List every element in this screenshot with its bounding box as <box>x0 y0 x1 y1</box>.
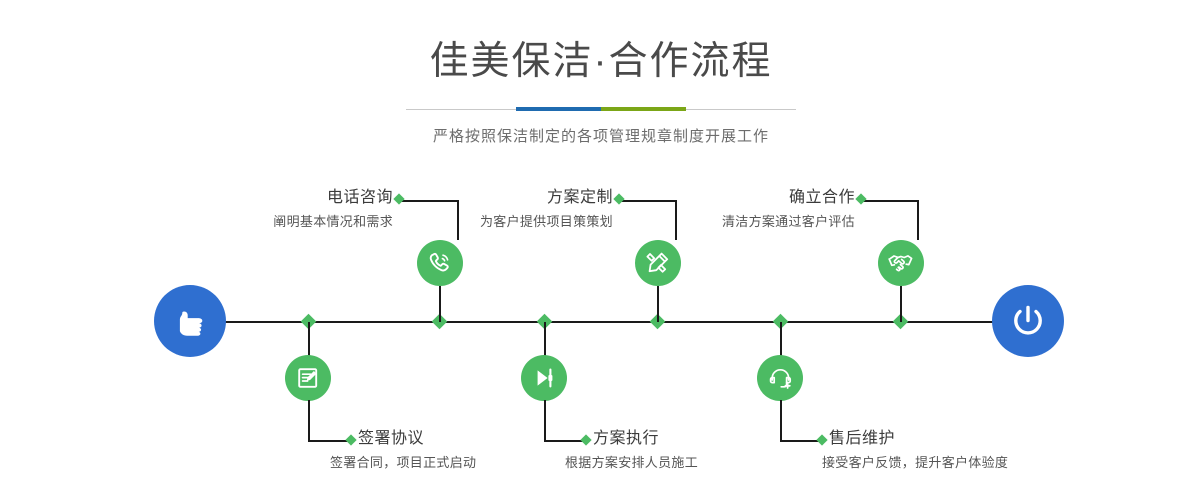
play-execute-icon <box>531 365 557 391</box>
connector-vertical-4 <box>657 286 659 322</box>
header: 佳美保洁·合作流程 严格按照保洁制定的各项管理规章制度开展工作 <box>0 0 1202 146</box>
divider-segment-green <box>601 107 686 111</box>
step-label-4: 方案执行 根据方案安排人员施工 <box>593 429 833 471</box>
step-title-3: 方案定制 <box>380 188 613 207</box>
label-marker-2 <box>345 434 356 445</box>
step-desc-6: 接受客户反馈，提升客户体验度 <box>822 455 1089 471</box>
step-title-5: 确立合作 <box>622 188 855 207</box>
connector-vertical-4b <box>544 400 546 441</box>
connector-vertical-2b <box>308 400 310 441</box>
connector-vertical-5b <box>917 200 919 240</box>
connector-vertical-6b <box>780 400 782 441</box>
step-title-1: 电话咨询 <box>160 188 393 207</box>
step-desc-4: 根据方案安排人员施工 <box>565 455 833 471</box>
step-label-6: 售后维护 接受客户反馈，提升客户体验度 <box>829 429 1089 471</box>
step-label-1: 电话咨询 阐明基本情况和需求 <box>160 188 393 230</box>
connector-vertical-5 <box>780 322 782 357</box>
step-label-2: 签署协议 签署合同，项目正式启动 <box>358 429 598 471</box>
headset-support-icon <box>767 365 794 392</box>
step-desc-3: 为客户提供项目策策划 <box>380 214 613 230</box>
pencil-ruler-icon <box>644 249 672 277</box>
document-edit-icon <box>295 365 321 391</box>
divider-segment-blue <box>516 107 601 111</box>
connector-vertical-2 <box>439 286 441 322</box>
title-divider <box>406 107 796 111</box>
connector-vertical-6 <box>900 286 902 322</box>
handshake-icon <box>887 249 915 277</box>
step-title-6: 售后维护 <box>829 429 1089 448</box>
step-icon-node-4 <box>521 355 567 401</box>
step-icon-node-3 <box>635 240 681 286</box>
step-title-2: 签署协议 <box>358 429 598 448</box>
step-desc-5: 清洁方案通过客户评估 <box>622 214 855 230</box>
connector-horizontal-2 <box>308 440 351 442</box>
step-icon-node-1 <box>417 240 463 286</box>
step-title-4: 方案执行 <box>593 429 833 448</box>
step-desc-2: 签署合同，项目正式启动 <box>330 455 598 471</box>
step-desc-1: 阐明基本情况和需求 <box>160 214 393 230</box>
step-label-3: 方案定制 为客户提供项目策策划 <box>380 188 613 230</box>
page-title: 佳美保洁·合作流程 <box>0 0 1202 81</box>
step-icon-node-2 <box>285 355 331 401</box>
step-label-5: 确立合作 清洁方案通过客户评估 <box>622 188 855 230</box>
label-marker-5 <box>855 193 866 204</box>
flow-start-node <box>154 285 226 357</box>
connector-vertical-3 <box>544 322 546 357</box>
connector-vertical-1 <box>308 322 310 357</box>
step-icon-node-5 <box>878 240 924 286</box>
pointing-hand-icon <box>170 301 210 341</box>
phone-call-icon <box>426 249 454 277</box>
power-icon <box>1007 300 1049 342</box>
step-icon-node-6 <box>757 355 803 401</box>
flow-end-node <box>992 285 1064 357</box>
page-subtitle: 严格按照保洁制定的各项管理规章制度开展工作 <box>0 125 1202 146</box>
connector-horizontal-5 <box>862 200 918 202</box>
cooperation-flow-infographic: 佳美保洁·合作流程 严格按照保洁制定的各项管理规章制度开展工作 <box>0 0 1202 502</box>
